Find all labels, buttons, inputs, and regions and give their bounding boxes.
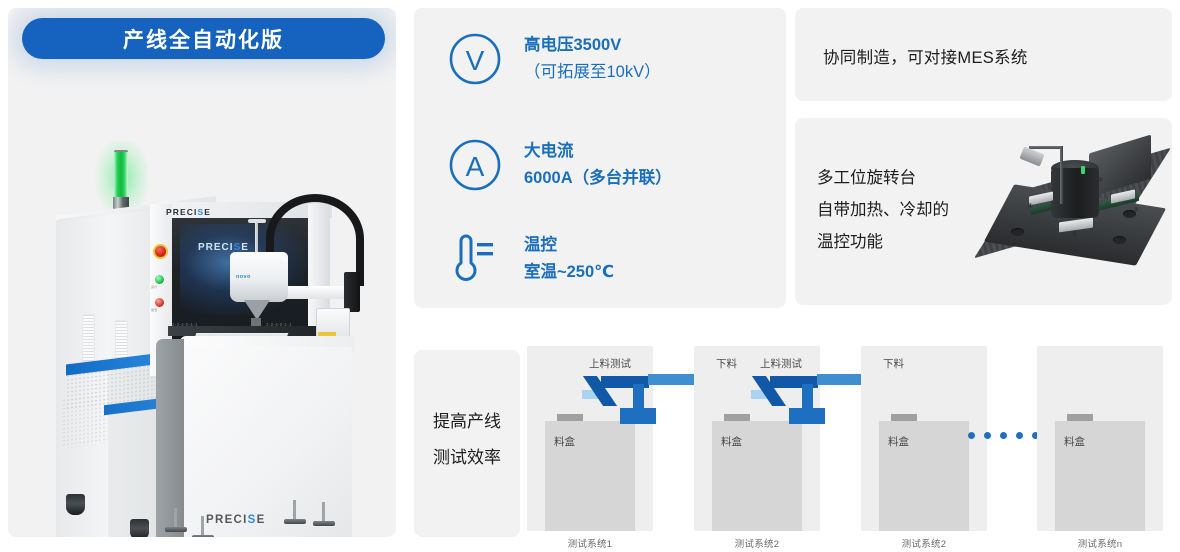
specifications-panel: V 高电压3500V （可拓展至10kV） A 大电流 6000A（多台并联） bbox=[414, 8, 786, 308]
ellipsis-dot bbox=[984, 432, 991, 439]
diagram-label-text: 提高产线 测试效率 bbox=[414, 404, 520, 475]
station-2-tray-label: 料盒 bbox=[721, 434, 742, 449]
robot-head-brand-label: novo bbox=[236, 274, 251, 280]
svg-text:A: A bbox=[466, 151, 485, 182]
spec-text-current: 大电流 6000A（多台并联） bbox=[524, 138, 672, 191]
station-3-caption: 测试系统2 bbox=[861, 536, 987, 550]
brand-logo-head: PRECISE bbox=[166, 207, 211, 217]
voltmeter-icon: V bbox=[446, 30, 504, 88]
spindle-post bbox=[255, 222, 258, 254]
rotary-line3: 温控功能 bbox=[817, 226, 987, 258]
signal-tower-green-lamp-icon bbox=[114, 150, 128, 198]
rotary-line2: 自带加热、冷却的 bbox=[817, 194, 987, 226]
brand-logo-front: PRECISE bbox=[206, 514, 266, 526]
station-n: 料盒 bbox=[1037, 346, 1163, 531]
stage-marking-left: 2-2-4-0-1-1 bbox=[172, 322, 198, 327]
ellipsis-dot bbox=[1016, 432, 1023, 439]
mes-integration-panel: 协同制造，可对接MES系统 bbox=[795, 8, 1172, 101]
station-2: 料盒 下料 上料测试 bbox=[694, 346, 820, 531]
station-1-tray-lid bbox=[557, 414, 583, 421]
product-photo-panel: 产线全自动化版 PRECISE PRECISE 运行 bbox=[8, 8, 396, 537]
stage-marking-right: 2-2-4-0-1-1 bbox=[266, 322, 292, 327]
emergency-stop-button[interactable] bbox=[153, 244, 168, 259]
status-lamp-green-label: 运行 bbox=[151, 285, 157, 289]
station-2-caption: 测试系统2 bbox=[694, 536, 820, 550]
station-1-tray-label: 料盒 bbox=[554, 434, 575, 449]
station-1-load-label: 上料测试 bbox=[589, 356, 631, 371]
thermometer-icon bbox=[446, 230, 504, 288]
spec-current-line2: 6000A（多台并联） bbox=[524, 165, 672, 192]
station-2-tray-lid bbox=[724, 414, 750, 421]
station-3-tray-lid bbox=[891, 414, 917, 421]
station-2-load-label: 上料测试 bbox=[760, 356, 802, 371]
camera-head bbox=[1019, 146, 1044, 166]
callout-2: ② bbox=[1133, 206, 1139, 214]
base-hole-1 bbox=[1011, 228, 1024, 236]
rotary-drum-indicator bbox=[1081, 166, 1085, 174]
machine-photo-illustration: PRECISE PRECISE 运行 报警 novo 2-2-4-0-1-1 2… bbox=[8, 64, 396, 537]
callout-3: ③ bbox=[1097, 176, 1103, 184]
gantry-arm bbox=[284, 286, 344, 299]
spec-voltage-line1: 高电压3500V bbox=[524, 32, 661, 59]
leveling-foot-pad-3 bbox=[284, 519, 306, 524]
page-root: 产线全自动化版 PRECISE PRECISE 运行 bbox=[0, 0, 1180, 552]
status-lamp-red bbox=[155, 298, 164, 307]
station-1-tray-box: 料盒 bbox=[545, 421, 635, 531]
diagram-label-panel: 提高产线 测试效率 bbox=[414, 350, 520, 537]
ellipsis-dot bbox=[968, 432, 975, 439]
station-3-unload-label: 下料 bbox=[883, 356, 904, 371]
probe-cone bbox=[244, 300, 270, 320]
svg-text:V: V bbox=[466, 45, 485, 76]
rotary-line1: 多工位旋转台 bbox=[817, 162, 987, 194]
ammeter-icon: A bbox=[446, 136, 504, 194]
rotary-drum bbox=[1051, 168, 1099, 218]
status-lamp-green bbox=[155, 275, 164, 284]
base-hole-3 bbox=[1113, 236, 1126, 244]
camera-arm-vertical bbox=[1060, 146, 1063, 204]
spec-temp-line2: 室温~250℃ bbox=[524, 259, 614, 286]
station-2-unload-label: 下料 bbox=[716, 356, 737, 371]
station-2-arm-base bbox=[789, 408, 825, 424]
diagram-label-line2: 测试效率 bbox=[414, 440, 520, 476]
station-n-tray-box: 料盒 bbox=[1055, 421, 1145, 531]
station-n-tray-label: 料盒 bbox=[1064, 434, 1085, 449]
camera-arm-horizontal bbox=[1029, 146, 1063, 149]
title-pill-label: 产线全自动化版 bbox=[123, 24, 284, 54]
title-pill-badge: 产线全自动化版 bbox=[22, 18, 385, 59]
station-1: 料盒 上料测试 bbox=[527, 346, 653, 531]
front-cabinet-side-panel bbox=[156, 339, 184, 537]
rotary-table-panel: 多工位旋转台 自带加热、冷却的 温控功能 ① ② ③ ④ bbox=[795, 118, 1172, 305]
spec-row-temperature: 温控 室温~250℃ bbox=[446, 230, 614, 288]
spec-row-voltage: V 高电压3500V （可拓展至10kV） bbox=[446, 30, 661, 88]
leveling-foot-pad-4 bbox=[313, 521, 335, 526]
spec-row-current: A 大电流 6000A（多台并联） bbox=[446, 136, 672, 194]
rotary-table-text: 多工位旋转台 自带加热、冷却的 温控功能 bbox=[817, 162, 987, 259]
spec-temp-line1: 温控 bbox=[524, 232, 614, 259]
station-n-caption: 测试系统n bbox=[1037, 536, 1163, 550]
ellipsis-dot bbox=[1000, 432, 1007, 439]
station-1-arm-base bbox=[620, 408, 656, 424]
leveling-foot-pad-1 bbox=[165, 527, 187, 532]
spec-current-line1: 大电流 bbox=[524, 138, 672, 165]
caster-wheel-1 bbox=[66, 494, 85, 515]
callout-4: ④ bbox=[1027, 202, 1033, 210]
leveling-foot-post-2 bbox=[201, 516, 204, 537]
station-n-tray-lid bbox=[1067, 414, 1093, 421]
mes-panel-text: 协同制造，可对接MES系统 bbox=[823, 44, 1028, 68]
diagram-label-line1: 提高产线 bbox=[414, 404, 520, 440]
spec-text-temperature: 温控 室温~250℃ bbox=[524, 232, 614, 285]
callout-1: ① bbox=[1071, 230, 1077, 238]
cable-junction-box bbox=[344, 272, 360, 312]
station-1-caption: 测试系统1 bbox=[527, 536, 653, 550]
spec-text-voltage: 高电压3500V （可拓展至10kV） bbox=[524, 32, 661, 85]
leveling-foot-pad-2 bbox=[192, 535, 214, 537]
station-3-tray-box: 料盒 bbox=[879, 421, 969, 531]
station-3-tray-label: 料盒 bbox=[888, 434, 909, 449]
status-lamp-red-label: 报警 bbox=[151, 308, 157, 312]
spec-voltage-line2: （可拓展至10kV） bbox=[524, 59, 661, 86]
caster-wheel-2 bbox=[130, 519, 149, 537]
rear-vent-left bbox=[82, 314, 95, 362]
station-2-tray-box: 料盒 bbox=[712, 421, 802, 531]
rotary-table-photo-illustration: ① ② ③ ④ bbox=[985, 132, 1165, 292]
